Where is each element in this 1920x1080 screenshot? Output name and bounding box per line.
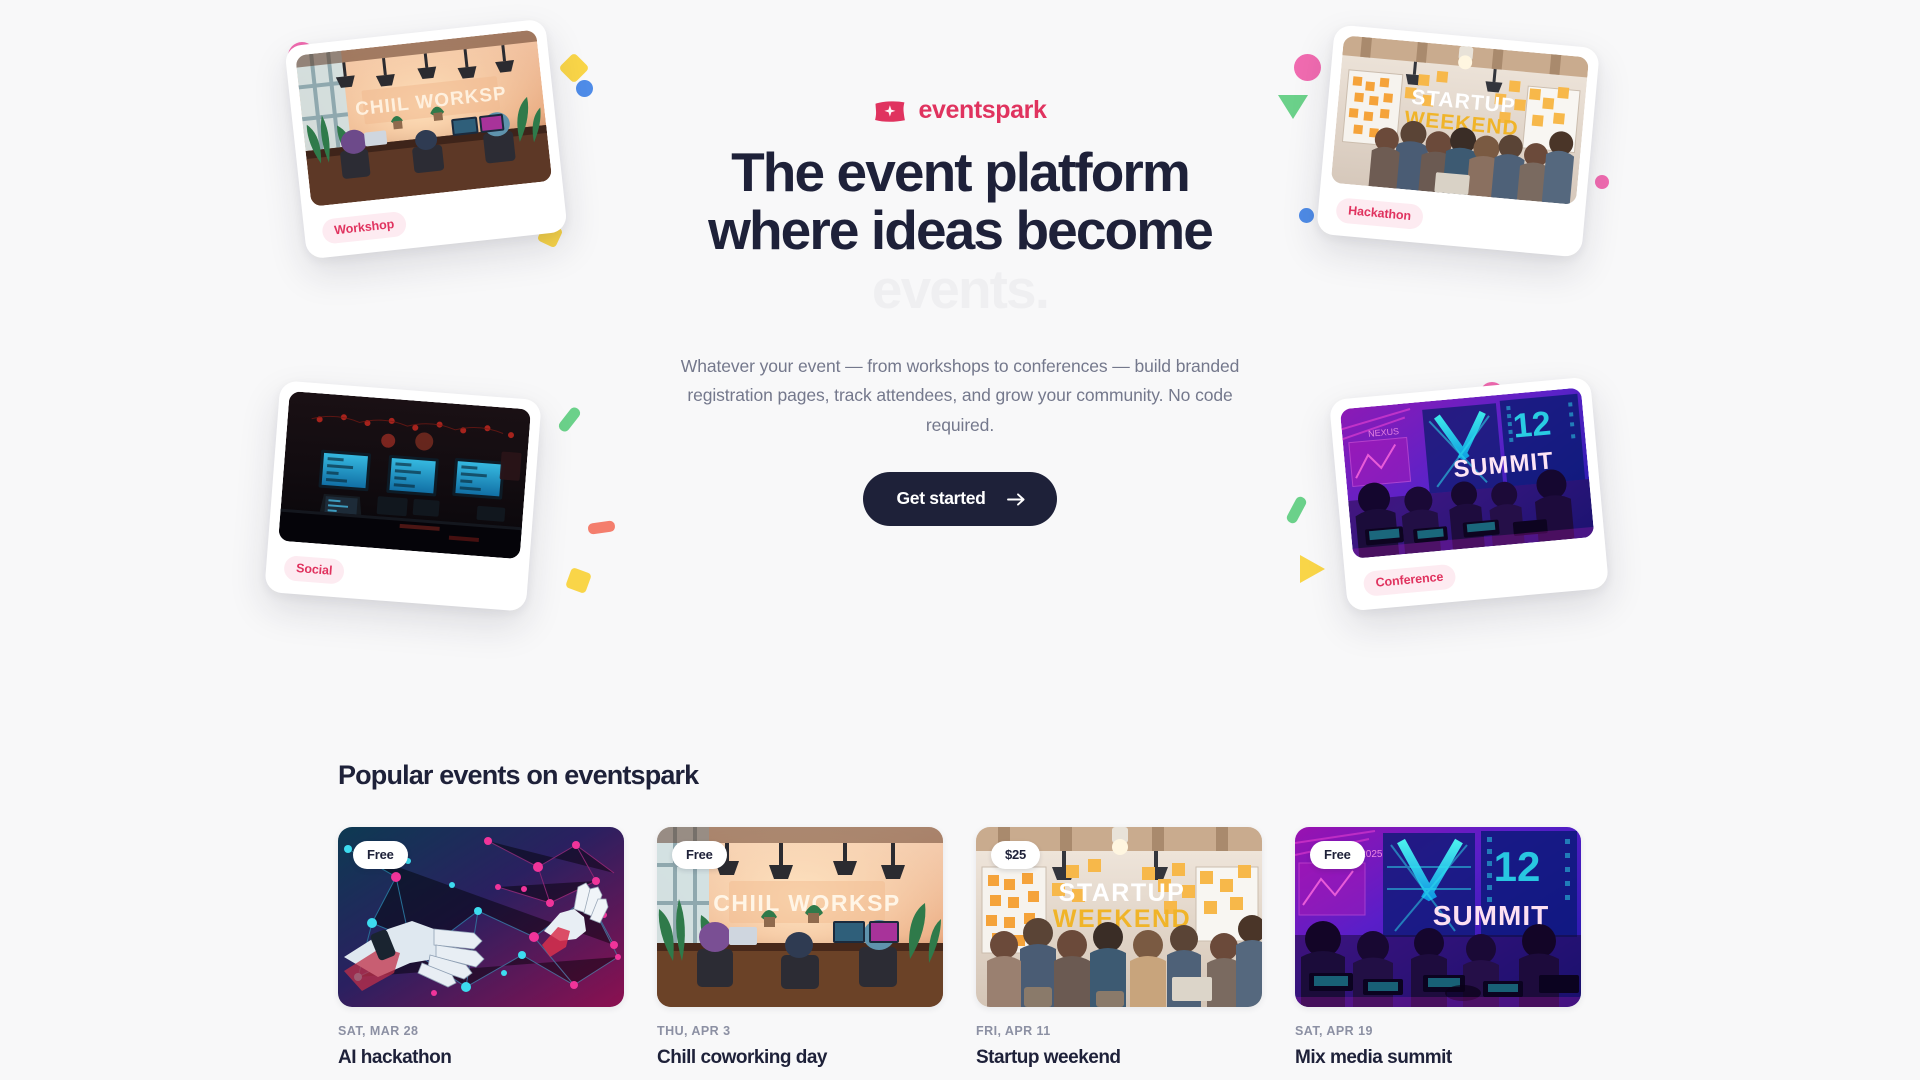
popular-events-section: Popular events on eventspark <box>338 760 1582 1071</box>
svg-text:12: 12 <box>1511 404 1552 445</box>
event-date: FRI, APR 11 <box>976 1024 1262 1038</box>
event-title: Chill coworking day <box>657 1046 943 1071</box>
headline-line-3: events. <box>650 260 1270 318</box>
arrow-right-icon <box>1007 491 1026 506</box>
event-card[interactable]: CHIIL WORKSP <box>657 827 943 1071</box>
yellow-square-icon <box>565 567 592 594</box>
price-badge: Free <box>353 841 408 869</box>
event-card[interactable]: STARTUP WEEKEND <box>976 827 1262 1071</box>
green-triangle-icon <box>1278 95 1308 119</box>
event-card[interactable]: Free SAT, MAR 28 AI hackathon <box>338 827 624 1071</box>
hero-card-hackathon[interactable]: STARTUP WEEKEND <box>1316 24 1600 257</box>
svg-text:12: 12 <box>1494 843 1541 890</box>
green-bar-icon <box>557 405 582 433</box>
coral-bar-icon <box>587 520 615 535</box>
brand-name: eventspark <box>918 96 1046 125</box>
event-date: SAT, MAR 28 <box>338 1024 624 1038</box>
hero-card-workshop[interactable]: CHIIL WORKSP <box>284 18 568 259</box>
hero-card-conference[interactable]: 12 SUMMIT NEXUS <box>1329 377 1609 612</box>
event-thumbnail[interactable]: 12 SUMMIT NEXUS 2025 <box>1295 827 1581 1007</box>
event-title: Mix media summit <box>1295 1046 1581 1071</box>
pink-circle-small-icon <box>1595 175 1609 189</box>
svg-text:STARTUP: STARTUP <box>1059 879 1186 907</box>
event-thumbnail[interactable]: Free <box>338 827 624 1007</box>
status-badge: Hackathon <box>1335 197 1424 230</box>
status-badge: Conference <box>1363 563 1457 596</box>
status-badge: Social <box>283 555 345 585</box>
status-badge: Workshop <box>321 210 407 244</box>
headline-line-2: where ideas become <box>650 201 1270 259</box>
yellow-diamond-icon <box>558 52 589 83</box>
event-thumbnail[interactable]: STARTUP WEEKEND <box>976 827 1262 1007</box>
event-date: THU, APR 3 <box>657 1024 943 1038</box>
get-started-button[interactable]: Get started <box>863 472 1056 526</box>
hero-subtitle: Whatever your event — from workshops to … <box>650 352 1270 440</box>
event-title: Startup weekend <box>976 1046 1262 1071</box>
ticket-icon <box>873 99 907 123</box>
event-thumbnail[interactable]: CHIIL WORKSP <box>657 827 943 1007</box>
hero-card-photo: STARTUP WEEKEND <box>1331 35 1589 205</box>
yellow-triangle-icon <box>1300 555 1325 583</box>
price-badge: $25 <box>991 841 1040 869</box>
hero-section: CHIIL WORKSP <box>0 0 1920 672</box>
hero-card-social[interactable]: Social <box>264 380 541 611</box>
hero-content: eventspark The event platform where idea… <box>650 96 1270 526</box>
hero-card-photo: CHIIL WORKSP <box>295 29 552 206</box>
blue-circle-icon <box>1299 208 1314 223</box>
price-badge: Free <box>672 841 727 869</box>
event-card[interactable]: 12 SUMMIT NEXUS 2025 <box>1295 827 1581 1071</box>
brand-logo[interactable]: eventspark <box>650 96 1270 125</box>
events-grid: Free SAT, MAR 28 AI hackathon <box>338 827 1582 1071</box>
hero-card-photo <box>278 391 531 559</box>
headline-line-1: The event platform <box>650 143 1270 201</box>
event-date: SAT, APR 19 <box>1295 1024 1581 1038</box>
get-started-label: Get started <box>896 488 985 509</box>
cta-wrapper: Get started <box>650 472 1270 526</box>
hero-card-photo: 12 SUMMIT NEXUS <box>1340 387 1595 558</box>
green-bar-icon <box>1285 495 1308 525</box>
blue-circle-icon <box>576 80 593 97</box>
event-title: AI hackathon <box>338 1046 624 1071</box>
svg-text:WEEKEND: WEEKEND <box>1053 905 1191 933</box>
page-title: The event platform where ideas become ev… <box>650 143 1270 318</box>
pink-circle-icon <box>1294 54 1321 81</box>
section-title: Popular events on eventspark <box>338 760 1582 791</box>
price-badge: Free <box>1310 841 1365 869</box>
